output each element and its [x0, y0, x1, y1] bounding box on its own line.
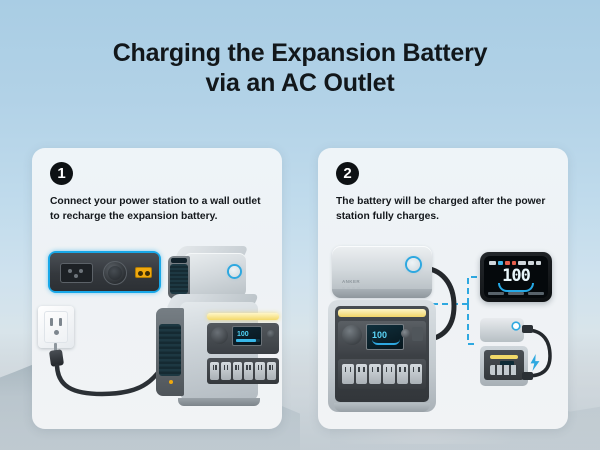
power-station: 100: [156, 294, 262, 406]
step-caption-1: Connect your power station to a wall out…: [50, 195, 268, 224]
illustration-step-2: ANKER 100: [318, 244, 568, 429]
battery-front-face: [184, 253, 246, 297]
ac-outlet: [233, 362, 242, 380]
station-front-face: 100: [180, 302, 258, 400]
hud-screen: 100: [484, 256, 548, 298]
ac-outlet-row: [207, 358, 279, 384]
station-base: [178, 398, 260, 406]
display-value: 100: [237, 331, 249, 338]
battery-handle-slot: [171, 258, 187, 263]
station-power-button[interactable]: [267, 330, 275, 338]
ac-outlet: [383, 364, 395, 384]
fan-vent-icon: [342, 325, 362, 345]
expansion-battery: [168, 246, 246, 300]
step-caption-2: The battery will be charged after the po…: [336, 195, 554, 224]
title-line-2: via an AC Outlet: [0, 68, 600, 98]
hud-arc-indicator: [498, 283, 534, 292]
led-light-bar: [207, 313, 279, 320]
hud-bottom-labels: [488, 292, 544, 295]
illustration-step-1: 100: [32, 244, 282, 429]
step-badge-2: 2: [336, 162, 359, 185]
station-side-panel: [156, 308, 184, 396]
station-vent-grille: [159, 324, 181, 376]
station-power-button[interactable]: [401, 329, 410, 338]
display-screen-callout: 100: [480, 252, 552, 302]
battery-vent-grille: [170, 264, 188, 294]
display-battery-bar: [236, 339, 260, 342]
battery-side-panel: [168, 256, 190, 299]
power-button-icon[interactable]: [229, 266, 240, 277]
device-stack-step-2: ANKER 100: [328, 246, 436, 416]
expansion-battery: ANKER: [332, 246, 432, 298]
hud-status-icons: [489, 260, 543, 265]
fan-vent-icon: [211, 327, 228, 344]
ac-outlet: [369, 364, 381, 384]
ac-outlet: [267, 362, 276, 380]
brand-logo: ANKER: [342, 279, 360, 284]
display-arc-indicator: [372, 339, 400, 345]
station-side-indicator: [169, 380, 173, 384]
power-station: 100: [328, 300, 436, 412]
inset-cable: [476, 312, 562, 398]
ac-outlet: [342, 364, 354, 384]
ac-outlet: [356, 364, 368, 384]
ac-outlet-row: [338, 359, 426, 389]
step-card-2: 2 The battery will be charged after the …: [318, 148, 568, 429]
device-stack-step-1: 100: [150, 246, 268, 408]
battery-base-lip: [332, 289, 432, 298]
ac-outlet: [244, 362, 253, 380]
ac-outlet: [255, 362, 264, 380]
station-label-plate: [412, 327, 423, 341]
power-button-icon[interactable]: [407, 258, 420, 271]
station-base: [334, 403, 430, 412]
station-control-panel: 100: [338, 321, 426, 355]
station-control-panel: 100: [207, 323, 279, 354]
led-light-bar: [338, 309, 426, 317]
step-badge-1: 1: [50, 162, 73, 185]
ac-outlet: [410, 364, 422, 384]
station-display: 100: [366, 324, 404, 350]
ac-outlet: [221, 362, 230, 380]
page-title: Charging the Expansion Battery via an AC…: [0, 38, 600, 98]
ac-outlet: [397, 364, 409, 384]
step-card-1: 1 Connect your power station to a wall o…: [32, 148, 282, 429]
battery-charging-inset: [476, 312, 562, 398]
title-line-1: Charging the Expansion Battery: [113, 39, 488, 67]
ac-outlet: [210, 362, 219, 380]
station-display: 100: [232, 326, 262, 346]
